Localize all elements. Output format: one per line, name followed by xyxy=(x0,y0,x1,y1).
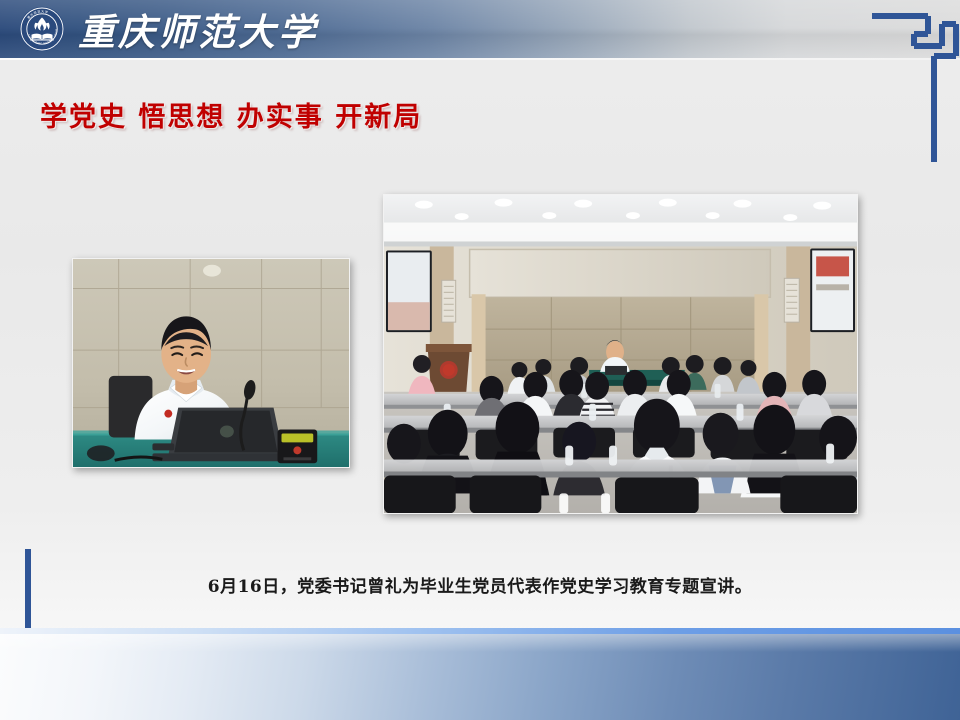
presentation-slide: 重庆师范大学 CHONGQING NORMAL UNIVERSITY 重庆师范大… xyxy=(0,0,960,720)
slide-caption: 6月16日，党委书记曾礼为毕业生党员代表作党史学习教育专题宣讲。 xyxy=(0,572,960,597)
university-seal-icon: 重庆师范大学 CHONGQING NORMAL UNIVERSITY xyxy=(19,6,65,52)
footer-band-highlight xyxy=(0,634,960,652)
header-separator xyxy=(0,58,960,60)
slide-title-slogan: 学党史 悟思想 办实事 开新局 xyxy=(40,95,422,134)
photo-audience xyxy=(383,194,858,514)
university-name: 重庆师范大学 xyxy=(78,4,318,54)
photo-speaker xyxy=(72,258,350,468)
